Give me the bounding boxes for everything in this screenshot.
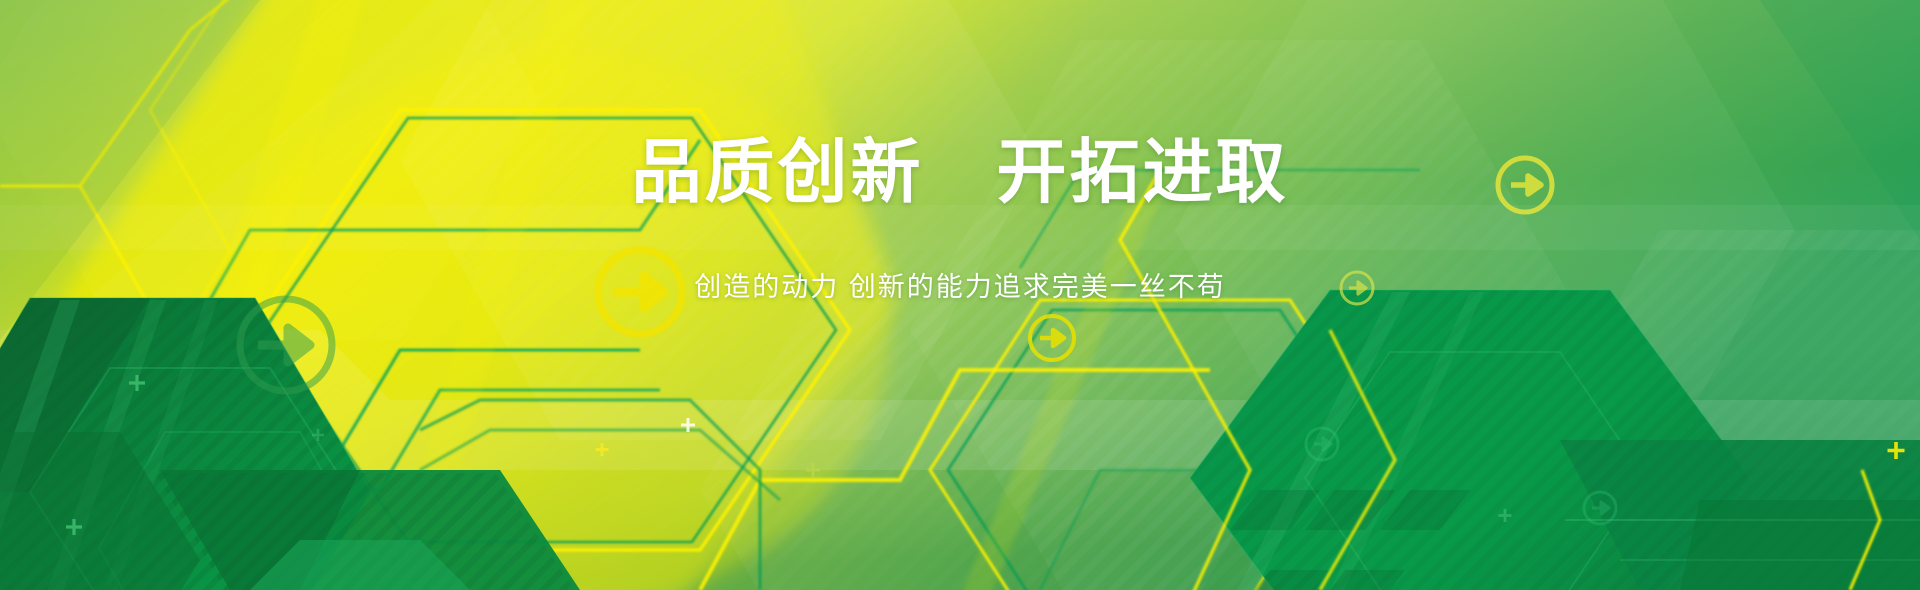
banner-background-graphic: [0, 0, 1920, 590]
hero-banner: 品质创新 开拓进取 创造的动力 创新的能力追求完美一丝不苟: [0, 0, 1920, 590]
